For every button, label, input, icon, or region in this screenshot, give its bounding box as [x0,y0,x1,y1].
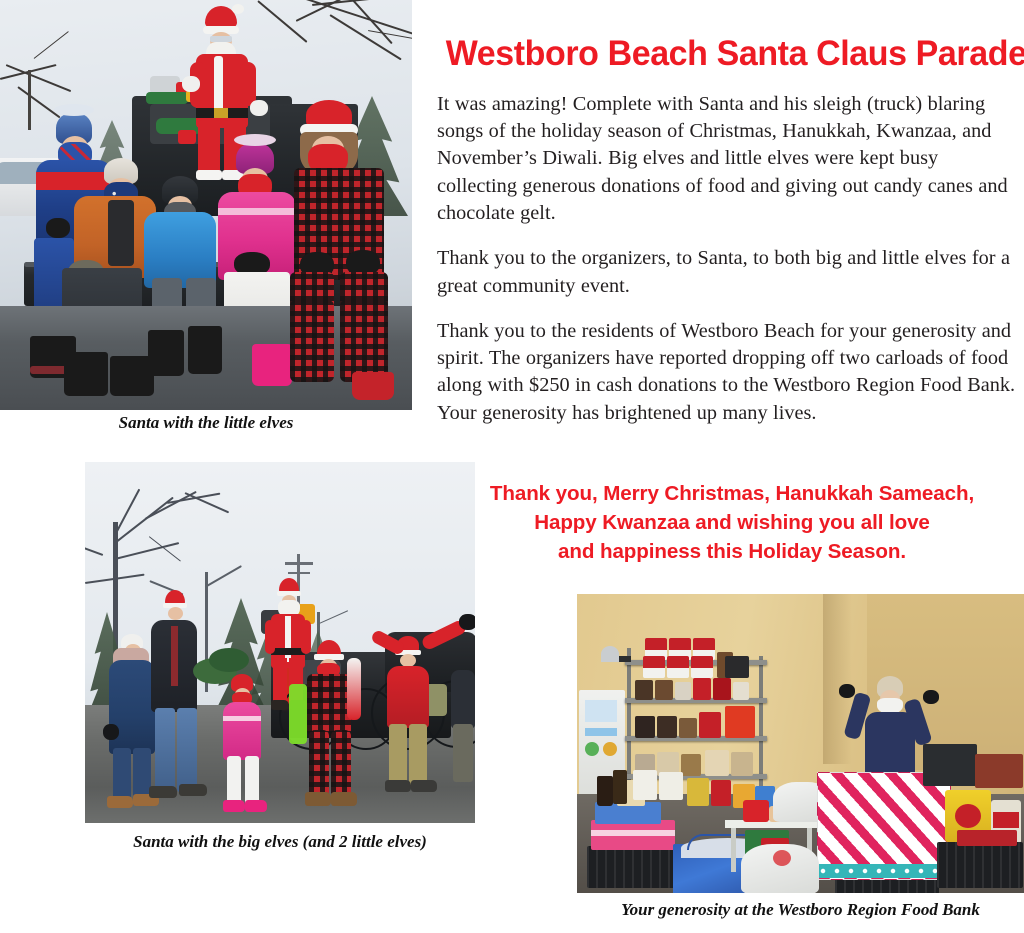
photo-santa-little-elves [0,0,412,410]
article-text-column: Westboro Beach Santa Claus Parade It was… [437,36,1017,427]
newsletter-page: Santa with the little elves [0,0,1024,933]
closing-line-1: Thank you, Merry Christmas, Hanukkah Sam… [443,479,1021,508]
photo-santa-big-elves [85,462,475,823]
closing-line-2: Happy Kwanzaa and wishing you all love [443,508,1021,537]
article-paragraph-3: Thank you to the residents of Westboro B… [437,318,1017,427]
photo-caption-1: Santa with the little elves [0,413,412,433]
closing-greeting-block: Thank you, Merry Christmas, Hanukkah Sam… [443,479,1021,567]
photo-caption-2: Santa with the big elves (and 2 little e… [85,832,475,852]
article-paragraph-1: It was amazing! Complete with Santa and … [437,91,1017,227]
article-paragraph-2: Thank you to the organizers, to Santa, t… [437,245,1017,300]
photo-caption-3: Your generosity at the Westboro Region F… [577,900,1024,920]
closing-line-3: and happiness this Holiday Season. [443,537,1021,566]
page-title: Westboro Beach Santa Claus Parade [446,36,1009,73]
photo-food-bank-donations [577,594,1024,893]
